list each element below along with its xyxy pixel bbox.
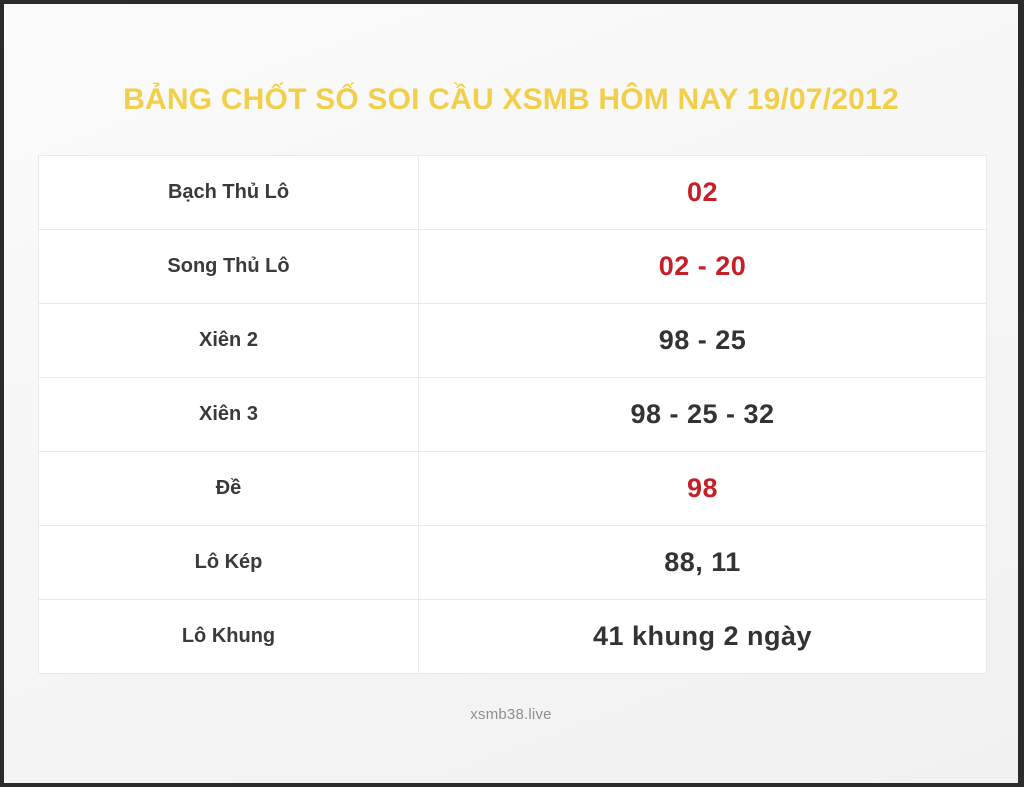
- row-value: 02: [419, 156, 987, 230]
- table-row: Xiên 2 98 - 25: [39, 304, 987, 378]
- row-value: 98 - 25 - 32: [419, 378, 987, 452]
- footer-site-label: xsmb38.live: [4, 706, 1018, 723]
- row-value: 98: [419, 452, 987, 526]
- chot-so-table: Bạch Thủ Lô 02 Song Thủ Lô 02 - 20 Xiên …: [38, 155, 987, 674]
- table-row: Đề 98: [39, 452, 987, 526]
- row-label: Lô Kép: [39, 526, 419, 600]
- table-row: Song Thủ Lô 02 - 20: [39, 230, 987, 304]
- chot-so-table-container: Bạch Thủ Lô 02 Song Thủ Lô 02 - 20 Xiên …: [38, 155, 984, 674]
- row-value: 02 - 20: [419, 230, 987, 304]
- row-value: 88, 11: [419, 526, 987, 600]
- page-title: BẢNG CHỐT SỐ SOI CẦU XSMB HÔM NAY 19/07/…: [4, 83, 1018, 117]
- page-canvas: BẢNG CHỐT SỐ SOI CẦU XSMB HÔM NAY 19/07/…: [4, 4, 1018, 783]
- row-label: Bạch Thủ Lô: [39, 156, 419, 230]
- row-value: 41 khung 2 ngày: [419, 600, 987, 674]
- table-row: Bạch Thủ Lô 02: [39, 156, 987, 230]
- row-value: 98 - 25: [419, 304, 987, 378]
- row-label: Xiên 2: [39, 304, 419, 378]
- row-label: Song Thủ Lô: [39, 230, 419, 304]
- table-row: Xiên 3 98 - 25 - 32: [39, 378, 987, 452]
- row-label: Đề: [39, 452, 419, 526]
- table-body: Bạch Thủ Lô 02 Song Thủ Lô 02 - 20 Xiên …: [39, 156, 987, 674]
- row-label: Lô Khung: [39, 600, 419, 674]
- table-row: Lô Kép 88, 11: [39, 526, 987, 600]
- row-label: Xiên 3: [39, 378, 419, 452]
- table-row: Lô Khung 41 khung 2 ngày: [39, 600, 987, 674]
